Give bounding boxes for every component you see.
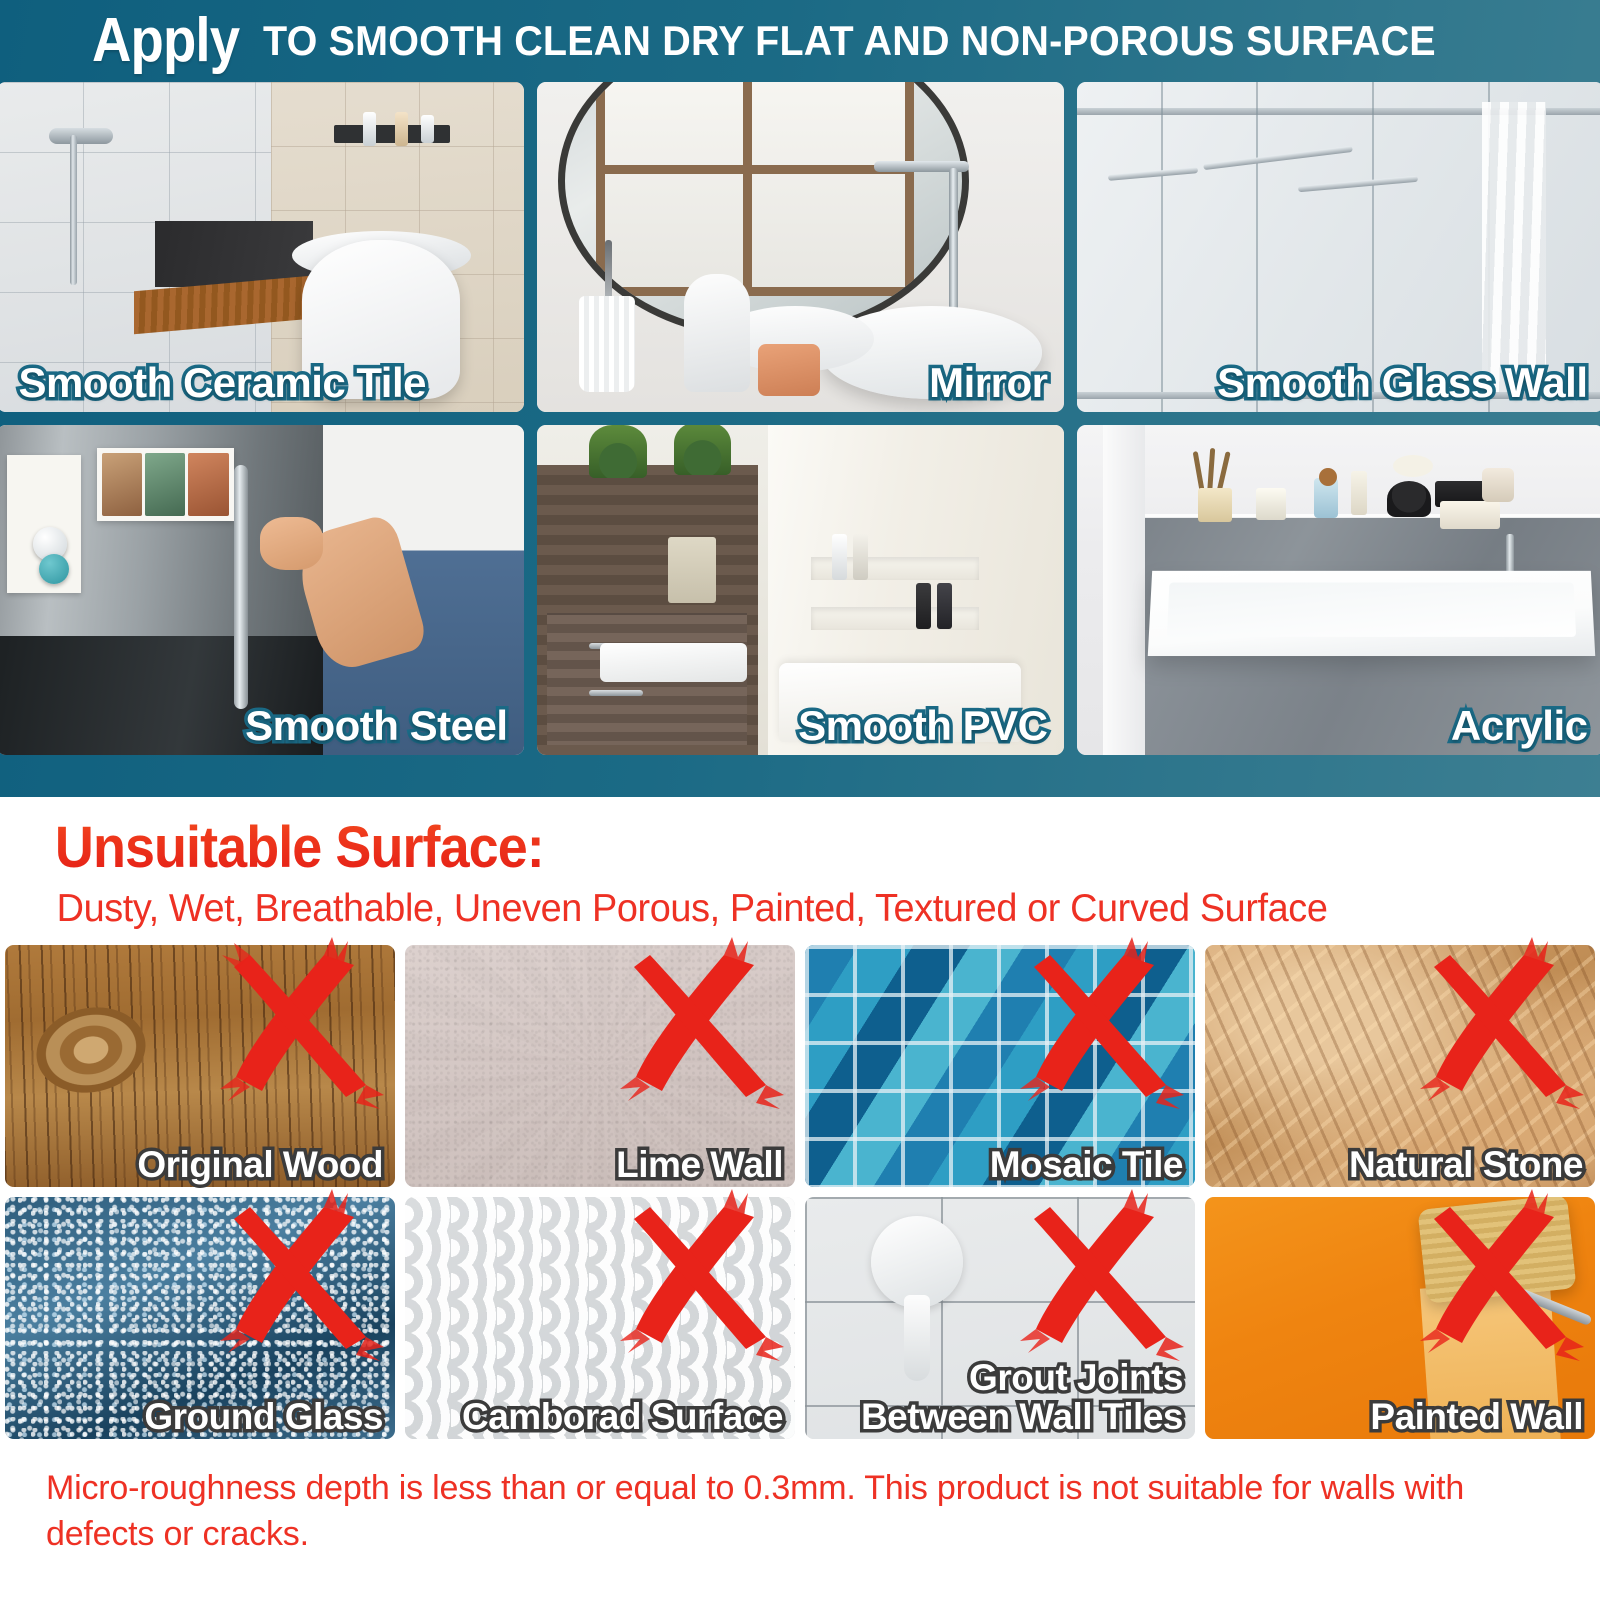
apply-tile-acrylic: Acrylic	[1077, 425, 1600, 755]
unsuitable-tile-caption: Ground Glass	[144, 1398, 383, 1437]
apply-tile-smooth-steel: Smooth Steel	[0, 425, 524, 755]
unsuitable-tile-natural-stone: Natural Stone	[1205, 945, 1595, 1187]
apply-tile-smooth-glass-wall: Smooth Glass Wall	[1077, 82, 1600, 412]
unsuitable-tile-caption-line1: Grout Joints	[861, 1359, 1183, 1398]
unsuitable-subtitle: Dusty, Wet, Breathable, Uneven Porous, P…	[14, 877, 1539, 931]
unsuitable-tile-caption: Natural Stone	[1349, 1146, 1583, 1185]
apply-tile-caption: Smooth Glass Wall	[1217, 360, 1587, 406]
unsuitable-tile-caption: Camborad Surface	[462, 1398, 783, 1437]
apply-tile-caption: Acrylic	[1451, 703, 1588, 749]
apply-tile-smooth-ceramic-tile: Smooth Ceramic Tile	[0, 82, 524, 412]
apply-section: Apply TO SMOOTH CLEAN DRY FLAT AND NON-P…	[0, 0, 1600, 797]
apply-tile-caption: Smooth Steel	[245, 703, 507, 749]
unsuitable-tile-caption: Lime Wall	[616, 1146, 783, 1185]
unsuitable-tile-mosaic-tile: Mosaic Tile	[805, 945, 1195, 1187]
apply-title-emphasis: Apply	[92, 10, 239, 72]
apply-tile-smooth-pvc: Smooth PVC	[537, 425, 1064, 755]
unsuitable-tile-grid: Original Wood Lime Wall	[14, 945, 1586, 1439]
unsuitable-tile-caption: Painted Wall	[1370, 1398, 1583, 1437]
unsuitable-tile-ground-glass: Ground Glass	[5, 1197, 395, 1439]
unsuitable-tile-caption-line2: Between Wall Tiles	[861, 1398, 1183, 1437]
apply-tile-caption: Smooth PVC	[798, 703, 1047, 749]
unsuitable-tile-caption: Mosaic Tile	[990, 1146, 1183, 1185]
unsuitable-section: Unsuitable Surface: Dusty, Wet, Breathab…	[0, 797, 1600, 1600]
unsuitable-tile-caption: Original Wood	[137, 1146, 383, 1185]
unsuitable-tile-lime-wall: Lime Wall	[405, 945, 795, 1187]
unsuitable-tile-caption: Grout Joints Between Wall Tiles	[861, 1359, 1183, 1437]
unsuitable-tile-original-wood: Original Wood	[5, 945, 395, 1187]
unsuitable-tile-camborad-surface: Camborad Surface	[405, 1197, 795, 1439]
apply-tile-grid: Smooth Ceramic Tile Mirror	[14, 82, 1586, 755]
apply-tile-caption: Smooth Ceramic Tile	[19, 360, 427, 406]
unsuitable-tile-grout-joints: Grout Joints Between Wall Tiles	[805, 1197, 1195, 1439]
apply-tile-mirror: Mirror	[537, 82, 1064, 412]
unsuitable-tile-painted-wall: Painted Wall	[1205, 1197, 1595, 1439]
unsuitable-title: Unsuitable Surface:	[14, 797, 1476, 877]
footer-disclaimer: Micro-roughness depth is less than or eq…	[46, 1466, 1544, 1558]
suction-hook-icon	[871, 1216, 963, 1308]
apply-header: Apply TO SMOOTH CLEAN DRY FLAT AND NON-P…	[14, 0, 1586, 82]
apply-tile-caption: Mirror	[929, 360, 1047, 406]
apply-title-rest: TO SMOOTH CLEAN DRY FLAT AND NON-POROUS …	[263, 20, 1436, 62]
